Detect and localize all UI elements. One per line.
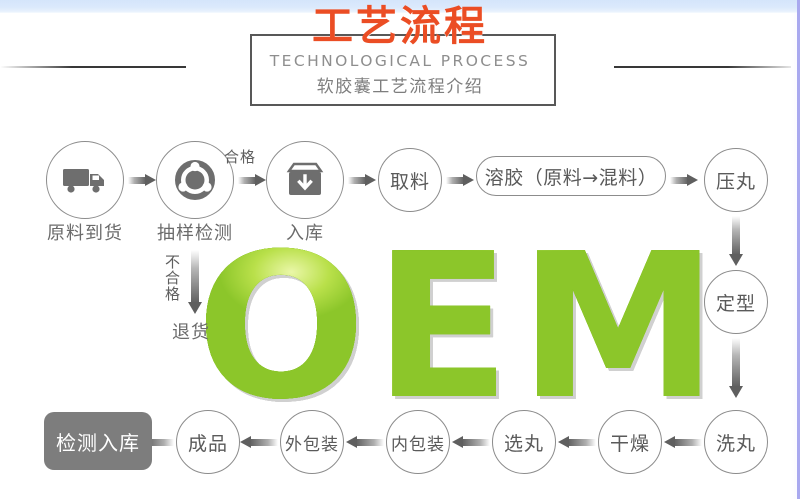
node-shaping[interactable]: 定型	[704, 270, 768, 334]
truck-icon	[62, 165, 108, 195]
arrow-selecting-to-inner-pack	[452, 436, 490, 448]
arrow-outer-to-finished	[240, 436, 278, 448]
node-pill-pressing[interactable]: 压丸	[704, 148, 768, 212]
oem-watermark: OEM	[196, 228, 726, 428]
arrow-arrival-to-sampling	[128, 174, 156, 186]
caption-raw-material-arrival: 原料到货	[26, 219, 144, 245]
arrow-drying-to-selecting	[558, 436, 596, 448]
inbox-arrow-down-icon	[284, 161, 326, 199]
node-drying[interactable]: 干燥	[598, 410, 662, 474]
arrow-gel-to-pressing	[670, 174, 698, 186]
label-pass: 合格	[224, 146, 256, 167]
node-inspection-warehouse[interactable]: 检测入库	[44, 412, 152, 470]
node-pill-washing[interactable]: 洗丸	[704, 410, 768, 474]
node-finished-product[interactable]: 成品	[176, 410, 240, 474]
arrow-fail-to-return	[188, 250, 202, 314]
page-subtitle-cn: 软胶囊工艺流程介绍	[0, 76, 800, 98]
label-return: 退货	[136, 318, 246, 344]
page-subtitle-en: TECHNOLOGICAL PROCESS	[0, 52, 800, 70]
sample-inspection-icon	[173, 158, 217, 202]
node-raw-material-arrival[interactable]	[46, 141, 124, 219]
arrow-washing-to-drying	[664, 436, 702, 448]
node-sampling-inspection[interactable]	[156, 141, 234, 219]
label-fail: 不合格	[162, 254, 183, 302]
node-material-pick[interactable]: 取料	[378, 148, 442, 212]
caption-sampling-inspection: 抽样检测	[136, 219, 254, 245]
node-pill-selecting[interactable]: 选丸	[492, 410, 556, 474]
arrow-pressing-to-shaping	[729, 216, 743, 266]
arrow-inner-to-outer-pack	[346, 436, 384, 448]
arrow-pick-to-gel	[446, 174, 474, 186]
caption-warehouse-in: 入库	[246, 219, 364, 245]
page-title: 工艺流程	[0, 4, 800, 48]
header: 工艺流程 TECHNOLOGICAL PROCESS 软胶囊工艺流程介绍	[0, 14, 800, 119]
node-outer-packaging[interactable]: 外包装	[280, 410, 344, 474]
arrow-shaping-to-washing	[729, 338, 743, 398]
arrow-sampling-to-warehouse	[238, 174, 266, 186]
node-gel-melting[interactable]: 溶胶（原料→混料）	[476, 156, 666, 196]
node-warehouse-in[interactable]	[266, 141, 344, 219]
flowchart-poster: 工艺流程 TECHNOLOGICAL PROCESS 软胶囊工艺流程介绍 OEM…	[0, 0, 800, 499]
arrow-warehouse-to-pick	[348, 174, 376, 186]
node-inner-packaging[interactable]: 内包装	[386, 410, 450, 474]
